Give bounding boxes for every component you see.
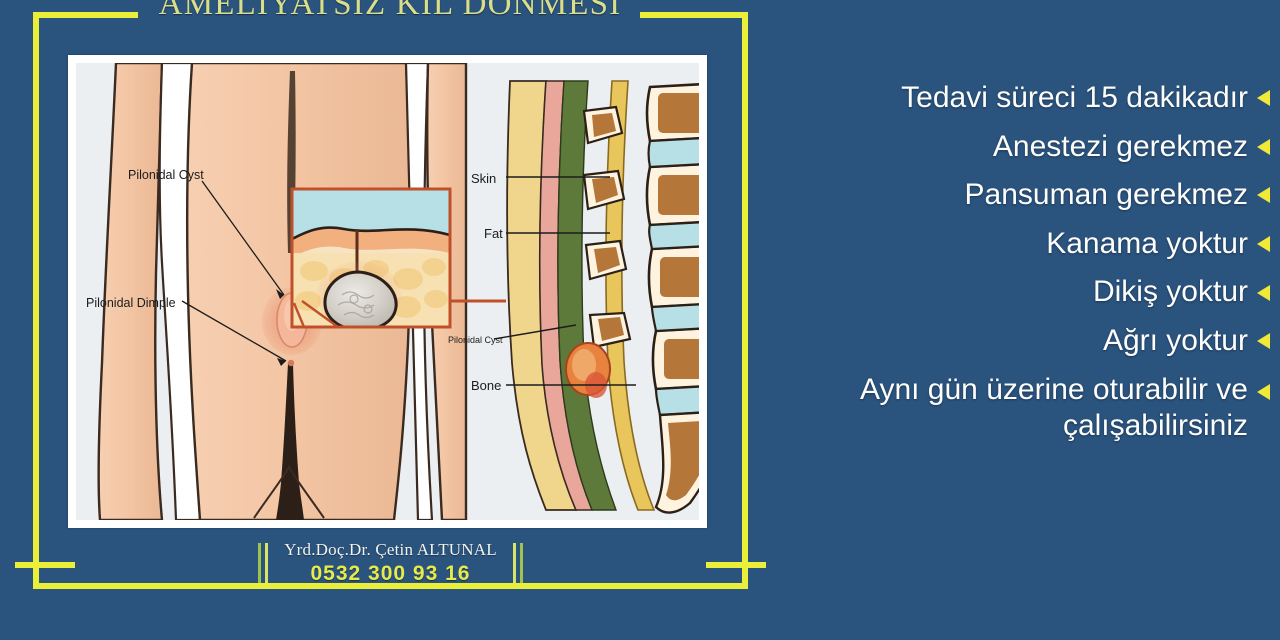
label-bone: Bone [471,378,501,393]
benefit-label: Pansuman gerekmez [965,177,1248,214]
benefit-item: Tedavi süreci 15 dakikadır [770,80,1270,117]
label-fat: Fat [484,226,503,241]
footer-contact: Yrd.Doç.Dr. Çetin ALTUNAL 0532 300 93 16 [33,536,748,590]
benefit-item: Anestezi gerekmez [770,129,1270,166]
infographic-root: AMELİYATSIZ KIL DÖNMESİ [0,0,1280,640]
footer-bar [258,543,261,583]
illustration-panel: Pilonidal Cyst Pilonidal Dimple Skin Fat… [68,55,707,528]
footer-bars-right [513,543,523,583]
triangle-left-icon [1257,236,1270,252]
benefit-item: Ağrı yoktur [770,323,1270,360]
label-skin: Skin [471,171,496,186]
benefit-label: Kanama yoktur [1046,226,1248,263]
triangle-left-icon [1257,187,1270,203]
footer-bar [520,543,523,583]
page-title: AMELİYATSIZ KIL DÖNMESİ [0,0,780,23]
benefits-list: Tedavi süreci 15 dakikadır Anestezi gere… [770,80,1270,457]
benefit-item: Dikiş yoktur [770,274,1270,311]
benefit-label: Anestezi gerekmez [993,129,1248,166]
benefit-label: Dikiş yoktur [1093,274,1248,311]
benefit-label: Ağrı yoktur [1103,323,1248,360]
triangle-left-icon [1257,333,1270,349]
medical-illustration-svg [76,63,699,520]
footer-bar [513,543,516,583]
label-pilonidal-dimple: Pilonidal Dimple [86,296,176,310]
triangle-left-icon [1257,285,1270,301]
label-pilonidal-cyst: Pilonidal Cyst [128,168,204,182]
frame-right-segment [742,12,748,589]
benefit-item: Pansuman gerekmez [770,177,1270,214]
frame-left-segment [33,12,39,589]
label-pilonidal-cyst-spine: Pilonidal Cyst [448,335,503,345]
footer-dash-left [15,562,75,568]
footer-dash-right [706,562,766,568]
triangle-left-icon [1257,384,1270,400]
footer-text-group: Yrd.Doç.Dr. Çetin ALTUNAL 0532 300 93 16 [268,540,513,586]
benefit-label: Tedavi süreci 15 dakikadır [901,80,1248,117]
benefit-item: Kanama yoktur [770,226,1270,263]
illustration-canvas: Pilonidal Cyst Pilonidal Dimple Skin Fat… [76,63,699,520]
doctor-name: Yrd.Doç.Dr. Çetin ALTUNAL [284,540,497,560]
benefit-label: Aynı gün üzerine oturabilir ve çalışabil… [770,372,1248,445]
footer-bars-left [258,543,268,583]
benefit-item: Aynı gün üzerine oturabilir ve çalışabil… [770,372,1270,445]
triangle-left-icon [1257,139,1270,155]
triangle-left-icon [1257,90,1270,106]
phone-number[interactable]: 0532 300 93 16 [284,562,497,586]
